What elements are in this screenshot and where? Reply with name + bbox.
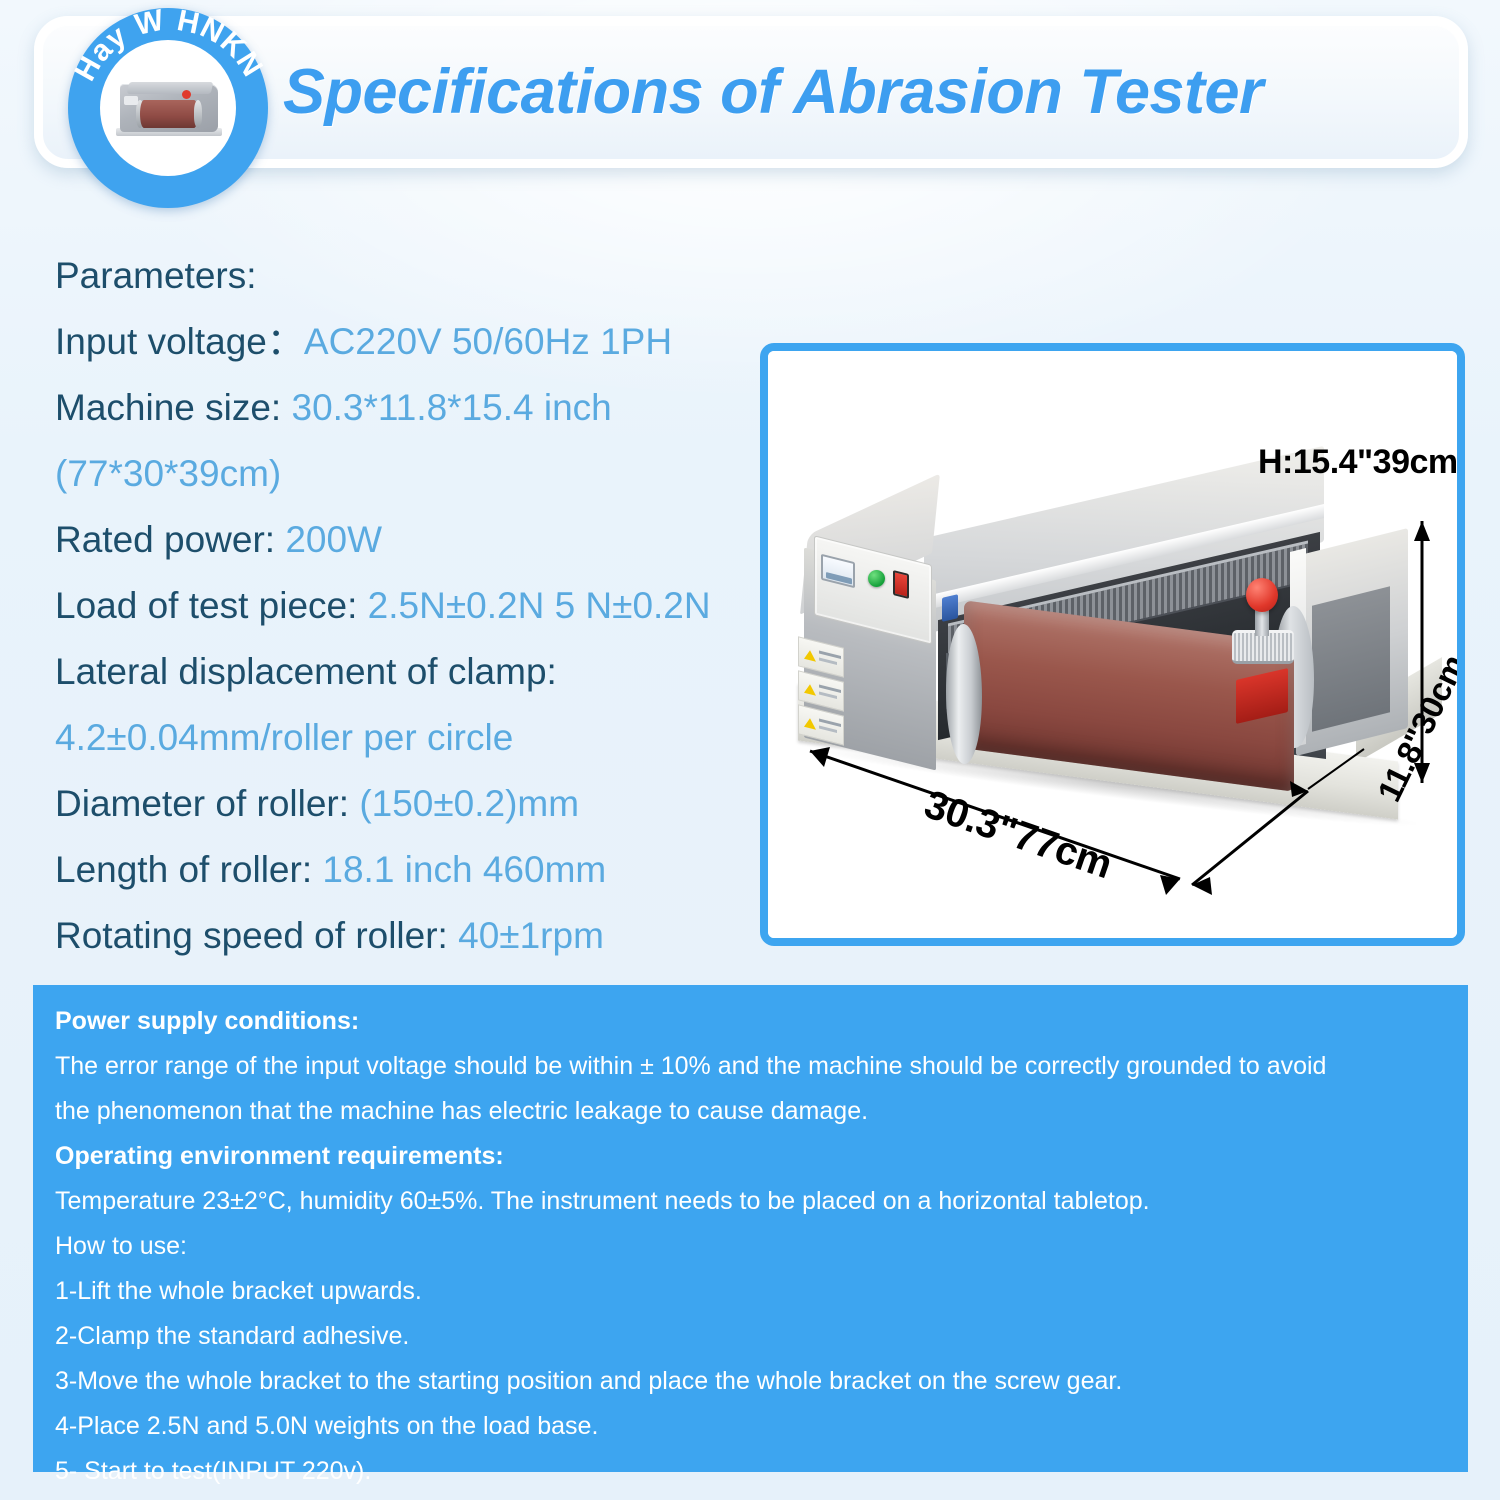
param-label-lateral-displacement: Lateral displacement of clamp: bbox=[55, 651, 557, 692]
param-row-machine-size-cm: (77*30*39cm) bbox=[55, 441, 775, 507]
info-heading-how-to-use: How to use: bbox=[55, 1224, 1446, 1269]
warning-labels bbox=[798, 642, 846, 762]
info-text-power-1: The error range of the input voltage sho… bbox=[55, 1044, 1446, 1089]
power-switch-icon bbox=[893, 570, 909, 599]
product-photo-panel: H:15.4"39cm 30.3"77cm 11.8"30cm bbox=[760, 343, 1465, 946]
param-row-load-test-piece: Load of test piece: 2.5N±0.2N 5 N±0.2N bbox=[55, 573, 775, 639]
param-value-input-voltage: AC220V 50/60Hz 1PH bbox=[304, 321, 672, 362]
abrasion-tester-machine-illustration bbox=[796, 446, 1436, 866]
info-heading-power-supply: Power supply conditions: bbox=[55, 999, 1446, 1044]
start-button-icon bbox=[868, 570, 885, 587]
param-value-length-roller: 18.1 inch 460mm bbox=[322, 849, 606, 890]
param-label-load-test-piece: Load of test piece: bbox=[55, 585, 357, 626]
logo-circle: Hay W HNKN bbox=[62, 24, 274, 196]
param-label-diameter-roller: Diameter of roller: bbox=[55, 783, 349, 824]
param-label-rotating-speed: Rotating speed of roller: bbox=[55, 915, 448, 956]
param-row-rotating-speed: Rotating speed of roller: 40±1rpm bbox=[55, 903, 775, 969]
info-heading-operating-env: Operating environment requirements: bbox=[55, 1134, 1446, 1179]
param-value-rated-power: 200W bbox=[285, 519, 382, 560]
param-row-length-roller: Length of roller: 18.1 inch 460mm bbox=[55, 837, 775, 903]
param-value-load-test-piece: 2.5N±0.2N 5 N±0.2N bbox=[368, 585, 711, 626]
param-row-lateral-displacement-value: 4.2±0.04mm/roller per circle bbox=[55, 705, 775, 771]
param-label-machine-size: Machine size: bbox=[55, 387, 281, 428]
param-row-diameter-roller: Diameter of roller: (150±0.2)mm bbox=[55, 771, 775, 837]
param-label-input-voltage: Input voltage： bbox=[55, 321, 304, 362]
brand-logo: Hay W HNKN bbox=[62, 24, 274, 196]
param-row-lateral-displacement: Lateral displacement of clamp: bbox=[55, 639, 775, 705]
param-row-machine-size: Machine size: 30.3*11.8*15.4 inch bbox=[55, 375, 775, 441]
param-label-length-roller: Length of roller: bbox=[55, 849, 312, 890]
product-photo: H:15.4"39cm 30.3"77cm 11.8"30cm bbox=[768, 351, 1457, 938]
info-step-5: 5- Start to test(INPUT 220v). bbox=[55, 1449, 1446, 1494]
param-value-rotating-speed: 40±1rpm bbox=[458, 915, 604, 956]
info-step-4: 4-Place 2.5N and 5.0N weights on the loa… bbox=[55, 1404, 1446, 1449]
param-label-rated-power: Rated power: bbox=[55, 519, 275, 560]
param-value-diameter-roller: (150±0.2)mm bbox=[359, 783, 579, 824]
param-value-machine-size: 30.3*11.8*15.4 inch bbox=[292, 387, 612, 428]
param-row-input-voltage: Input voltage：AC220V 50/60Hz 1PH bbox=[55, 309, 775, 375]
info-step-2: 2-Clamp the standard adhesive. bbox=[55, 1314, 1446, 1359]
info-panel: Power supply conditions: The error range… bbox=[33, 985, 1468, 1472]
logo-brand-arc: Hay W HNKN bbox=[68, 8, 268, 208]
logo-brand-text: Hay W HNKN bbox=[68, 8, 268, 86]
info-step-1: 1-Lift the whole bracket upwards. bbox=[55, 1269, 1446, 1314]
info-text-env-1: Temperature 23±2°C, humidity 60±5%. The … bbox=[55, 1179, 1446, 1224]
param-row-rated-power: Rated power: 200W bbox=[55, 507, 775, 573]
page-title: Specifications of Abrasion Tester bbox=[283, 56, 1463, 128]
parameters-heading: Parameters: bbox=[55, 243, 775, 309]
red-knob-icon bbox=[1246, 578, 1278, 612]
dimension-height-label: H:15.4"39cm bbox=[1258, 443, 1458, 482]
info-text-power-2: the phenomenon that the machine has elec… bbox=[55, 1089, 1446, 1134]
info-step-3: 3-Move the whole bracket to the starting… bbox=[55, 1359, 1446, 1404]
parameters-section: Parameters: Input voltage：AC220V 50/60Hz… bbox=[55, 243, 775, 969]
